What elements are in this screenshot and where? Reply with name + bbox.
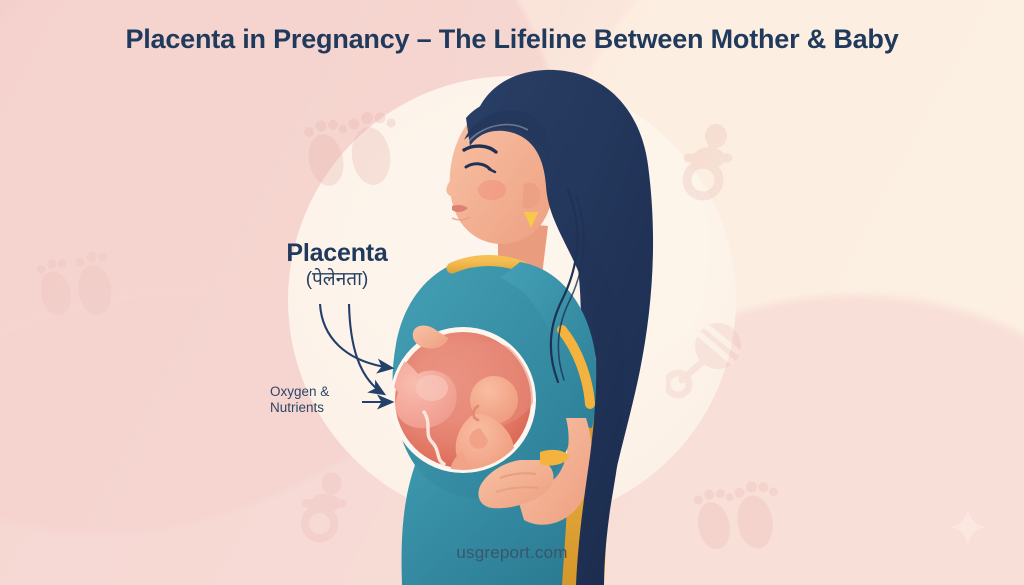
- placenta-label: Placenta (पेलेनता): [272, 240, 402, 292]
- placenta-label-hi: (पेलेनता): [272, 268, 402, 292]
- placenta-highlight: [416, 375, 448, 401]
- infographic-canvas: Placenta (पेलेनता) Oxygen & Nutrients Pl…: [0, 0, 1024, 585]
- oxygen-nutrients-label: Oxygen & Nutrients: [270, 384, 366, 417]
- oxygen-nutrients-line-2: Nutrients: [270, 400, 366, 416]
- oxygen-nutrients-line-1: Oxygen &: [270, 384, 366, 400]
- pregnant-woman-illustration: [0, 0, 1024, 585]
- page-title: Placenta in Pregnancy – The Lifeline Bet…: [0, 24, 1024, 55]
- site-url-watermark: usgreport.com: [0, 543, 1024, 563]
- cheek-blush: [478, 180, 506, 200]
- placenta-label-en: Placenta: [272, 240, 402, 267]
